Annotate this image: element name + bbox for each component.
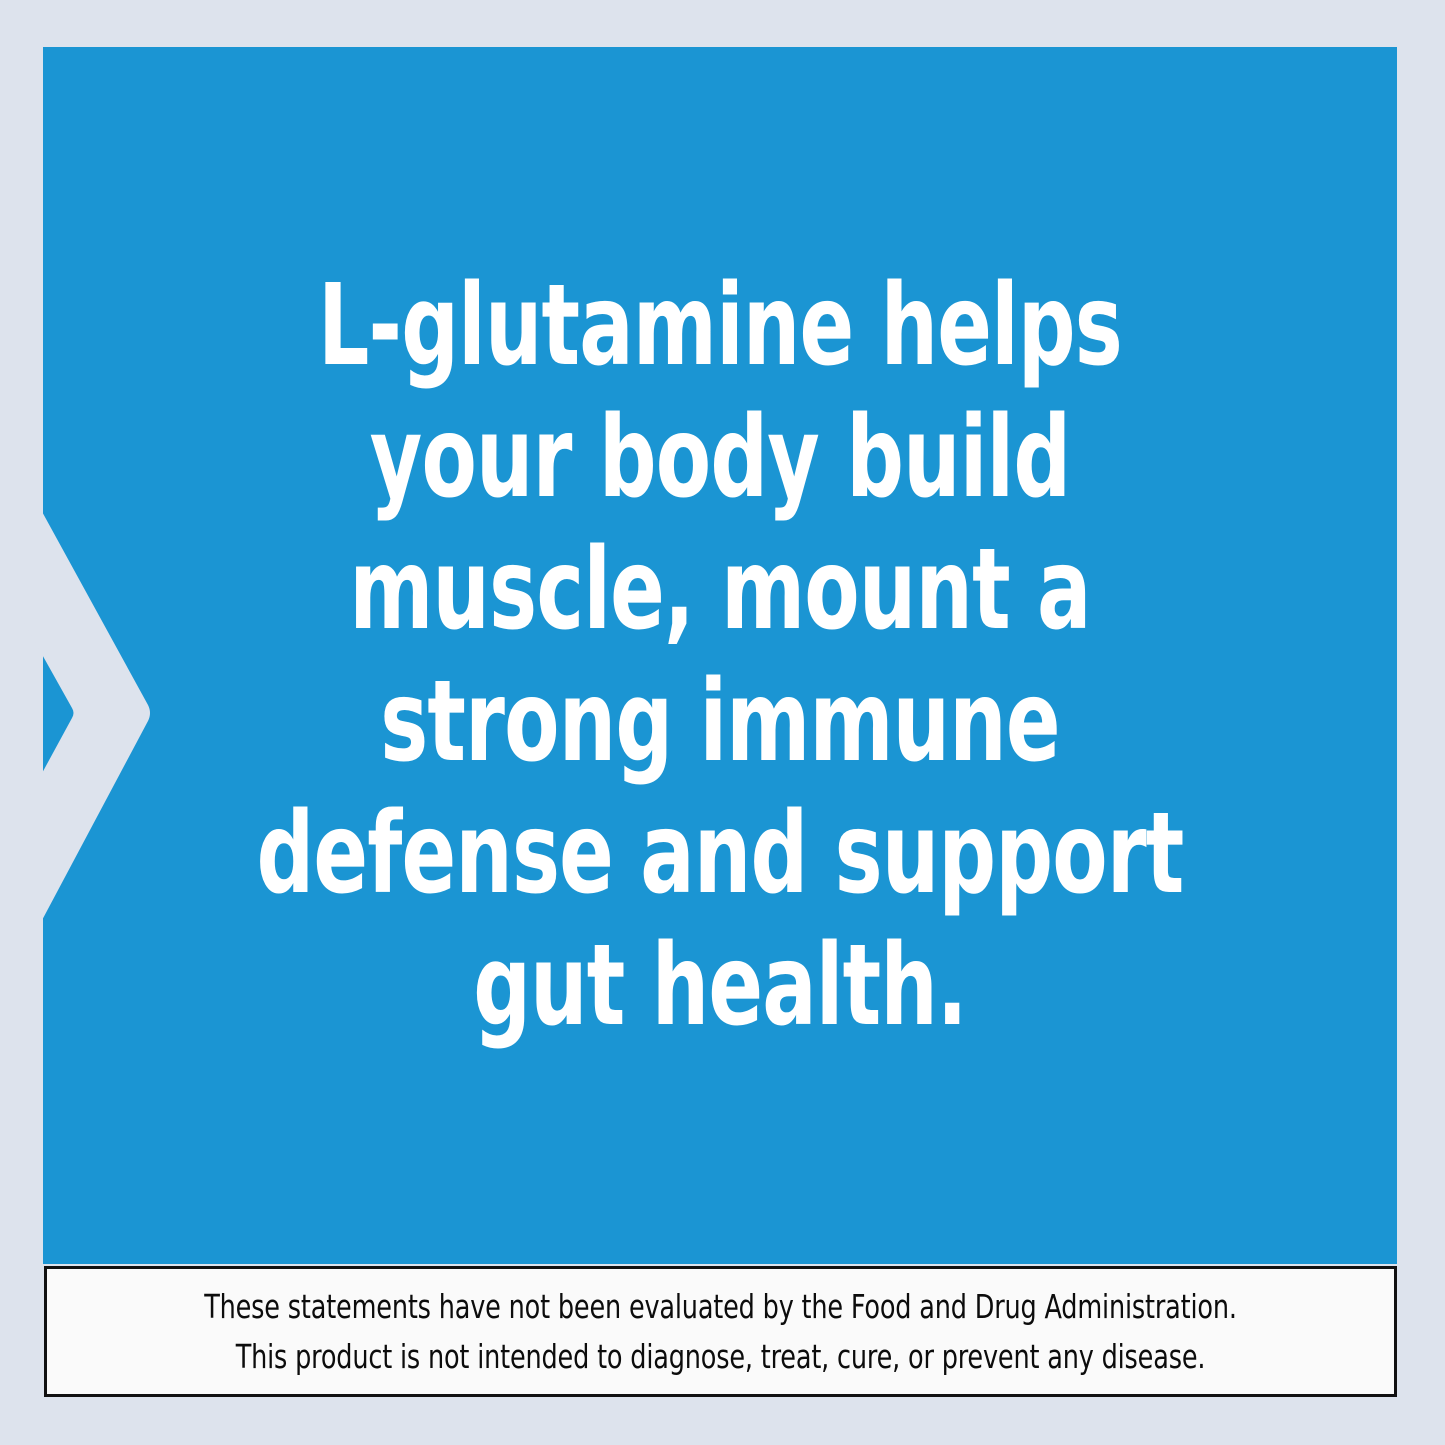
disclaimer-line-1: These statements have not been evaluated… [141, 1282, 1299, 1332]
headline-line-6: gut health. [178, 920, 1261, 1052]
product-benefit-card: L-glutamine helps your body build muscle… [0, 0, 1445, 1445]
headline-line-2: your body build [178, 392, 1261, 524]
headline-block: L-glutamine helps your body build muscle… [43, 47, 1397, 1264]
headline-line-5: defense and support [178, 788, 1261, 920]
disclaimer-line-2: This product is not intended to diagnose… [141, 1332, 1299, 1382]
headline-line-4: strong immune [178, 656, 1261, 788]
headline-line-3: muscle, mount a [178, 524, 1261, 656]
fda-disclaimer-box: These statements have not been evaluated… [44, 1266, 1397, 1397]
headline-line-1: L-glutamine helps [178, 260, 1261, 392]
